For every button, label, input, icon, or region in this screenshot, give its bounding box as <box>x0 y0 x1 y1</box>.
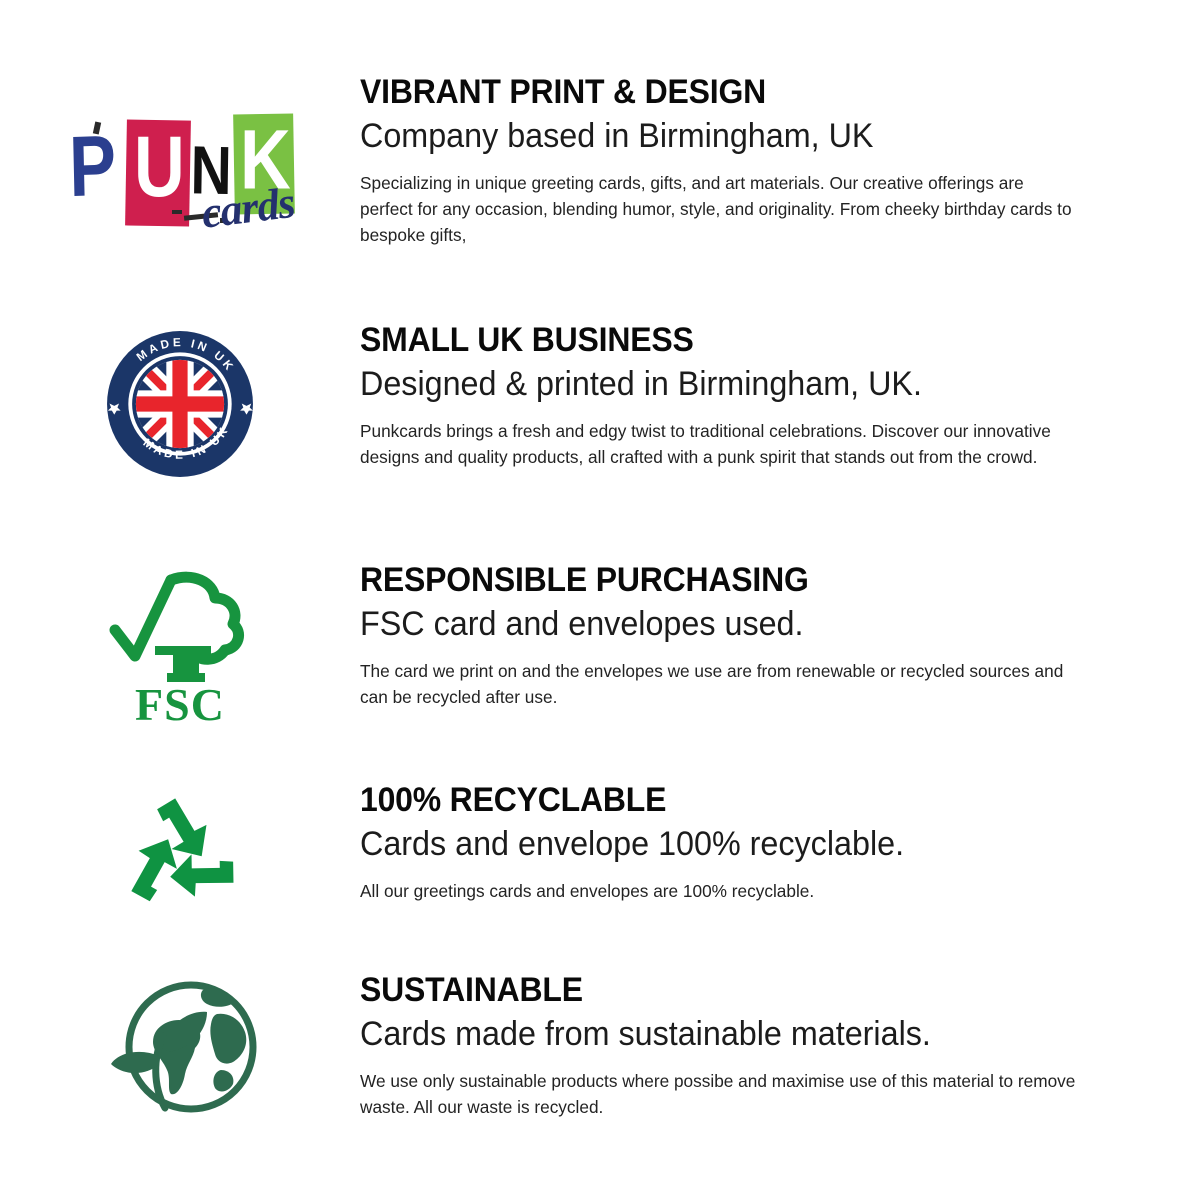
plant-leaf-left <box>111 1052 159 1073</box>
feature-subtitle-100-percent-recyclable: Cards and envelope 100% recyclable. <box>360 822 1063 866</box>
feature-row-responsible-purchasing: FSC RESPONSIBLE PURCHASING FSC card and … <box>0 560 1200 728</box>
feature-title-vibrant-print-design: VIBRANT PRINT & DESIGN <box>360 72 1056 112</box>
feature-body-100-percent-recyclable: All our greetings cards and envelopes ar… <box>360 878 1079 904</box>
feature-row-sustainable: SUSTAINABLE Cards made from sustainable … <box>0 970 1200 1120</box>
feature-row-vibrant-print-design: P U N K cards VIBRANT PRINT & DESIGN Com… <box>0 72 1200 248</box>
feature-subtitle-sustainable: Cards made from sustainable materials. <box>360 1012 1063 1056</box>
text-cell-small-uk-business: SMALL UK BUSINESS Designed & printed in … <box>360 320 1200 470</box>
feature-row-100-percent-recyclable: 100% RECYCLABLE Cards and envelope 100% … <box>0 780 1200 920</box>
text-cell-sustainable: SUSTAINABLE Cards made from sustainable … <box>360 970 1200 1120</box>
icon-cell-punkcards-logo: P U N K cards <box>0 72 360 234</box>
feature-body-sustainable: We use only sustainable products where p… <box>360 1068 1079 1120</box>
recycle-symbol-icon <box>105 790 255 920</box>
plant-leaf-right <box>163 1012 207 1052</box>
feature-list-page: P U N K cards VIBRANT PRINT & DESIGN Com… <box>0 0 1200 1200</box>
icon-cell-fsc-logo: FSC <box>0 560 360 728</box>
text-cell-100-percent-recyclable: 100% RECYCLABLE Cards and envelope 100% … <box>360 780 1200 904</box>
feature-title-100-percent-recyclable: 100% RECYCLABLE <box>360 780 1056 820</box>
logo-letter-u: U <box>134 124 183 210</box>
icon-cell-globe-plant <box>0 970 360 1119</box>
feature-subtitle-responsible-purchasing: FSC card and envelopes used. <box>360 602 1063 646</box>
feature-title-sustainable: SUSTAINABLE <box>360 970 1056 1010</box>
icon-cell-made-in-uk-badge: MADE IN UK MADE IN UK <box>0 320 360 480</box>
feature-row-small-uk-business: MADE IN UK MADE IN UK SMALL UK BUSINESS … <box>0 320 1200 480</box>
feature-subtitle-small-uk-business: Designed & printed in Birmingham, UK. <box>360 362 1063 406</box>
feature-body-small-uk-business: Punkcards brings a fresh and edgy twist … <box>360 418 1079 470</box>
text-cell-vibrant-print-design: VIBRANT PRINT & DESIGN Company based in … <box>360 72 1200 248</box>
feature-title-responsible-purchasing: RESPONSIBLE PURCHASING <box>360 560 1056 600</box>
punkcards-logo-icon: P U N K cards <box>64 114 296 234</box>
fsc-logo-icon: FSC <box>105 568 255 728</box>
feature-body-responsible-purchasing: The card we print on and the envelopes w… <box>360 658 1079 710</box>
globe-plant-icon <box>91 974 269 1119</box>
icon-cell-recycle-symbol <box>0 780 360 920</box>
logo-letter-p: P <box>68 123 115 210</box>
text-cell-responsible-purchasing: RESPONSIBLE PURCHASING FSC card and enve… <box>360 560 1200 710</box>
fsc-wordmark: FSC <box>135 679 225 728</box>
feature-subtitle-vibrant-print-design: Company based in Birmingham, UK <box>360 114 1063 158</box>
feature-title-small-uk-business: SMALL UK BUSINESS <box>360 320 1056 360</box>
made-in-uk-badge-icon: MADE IN UK MADE IN UK <box>104 328 256 480</box>
logo-script-cards: cards <box>199 181 296 236</box>
feature-body-vibrant-print-design: Specializing in unique greeting cards, g… <box>360 170 1079 248</box>
